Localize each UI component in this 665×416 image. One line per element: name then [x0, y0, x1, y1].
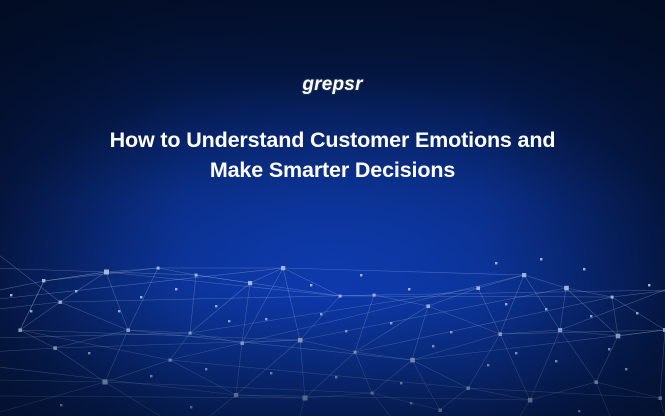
page-title-line-2: Make Smarter Decisions [60, 155, 605, 185]
banner-content: grepsr How to Understand Customer Emotio… [0, 0, 665, 416]
article-hero-banner: grepsr How to Understand Customer Emotio… [0, 0, 665, 416]
page-title-line-1: How to Understand Customer Emotions and [60, 125, 605, 155]
grepsr-logo[interactable]: grepsr [0, 74, 665, 96]
page-title: How to Understand Customer Emotions and … [0, 125, 665, 185]
